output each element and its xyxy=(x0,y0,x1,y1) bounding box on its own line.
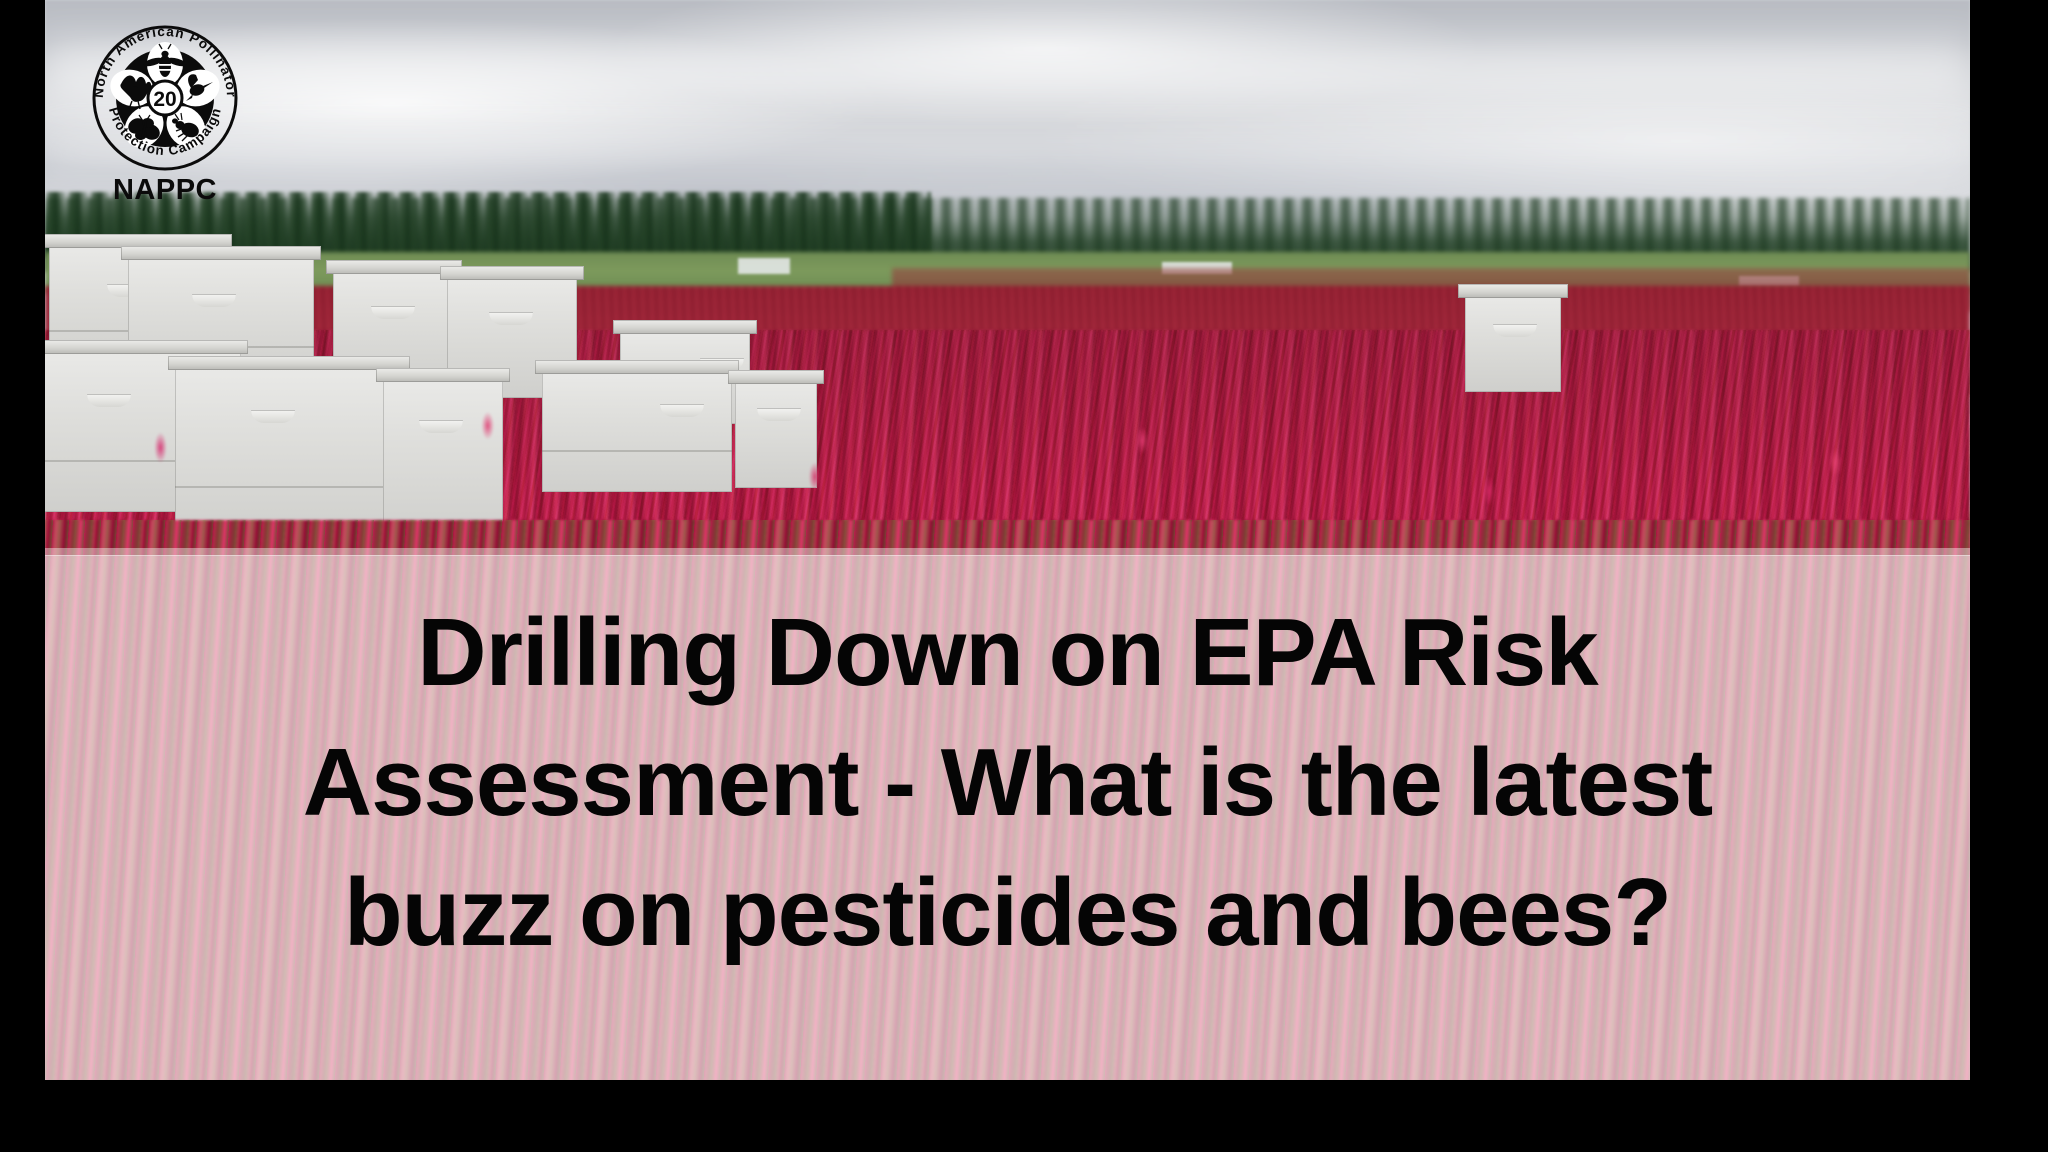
hive-lid xyxy=(440,266,584,280)
hive-handhold xyxy=(489,312,533,325)
farm-building xyxy=(738,258,790,274)
letterbox-right xyxy=(1970,0,2048,1152)
hive-lid xyxy=(1458,284,1568,298)
letterbox-bottom xyxy=(0,1080,2048,1152)
page-title: Drilling Down on EPA Risk Assessment - W… xyxy=(45,588,1970,978)
cloud-band xyxy=(45,130,1970,174)
nappc-logo-mark: 20 North American Pollinator Protection … xyxy=(85,22,245,172)
title-line-2: Assessment - What is the latest xyxy=(45,718,1970,848)
title-slide: 20 North American Pollinator Protection … xyxy=(0,0,2048,1152)
hive-lid xyxy=(45,340,248,354)
hive-handhold xyxy=(371,306,415,319)
logo-center-number: 20 xyxy=(153,88,176,111)
hive-handhold xyxy=(1493,324,1537,337)
hive-lid xyxy=(613,320,757,334)
nappc-logo: 20 North American Pollinator Protection … xyxy=(85,22,245,212)
hive-handhold xyxy=(192,294,236,307)
title-line-1: Drilling Down on EPA Risk xyxy=(45,588,1970,718)
cloud-band xyxy=(45,40,1970,100)
title-line-3: buzz on pesticides and bees? xyxy=(45,848,1970,978)
letterbox-left xyxy=(0,0,45,1152)
logo-acronym: NAPPC xyxy=(85,174,245,207)
hive-lid xyxy=(121,246,321,260)
